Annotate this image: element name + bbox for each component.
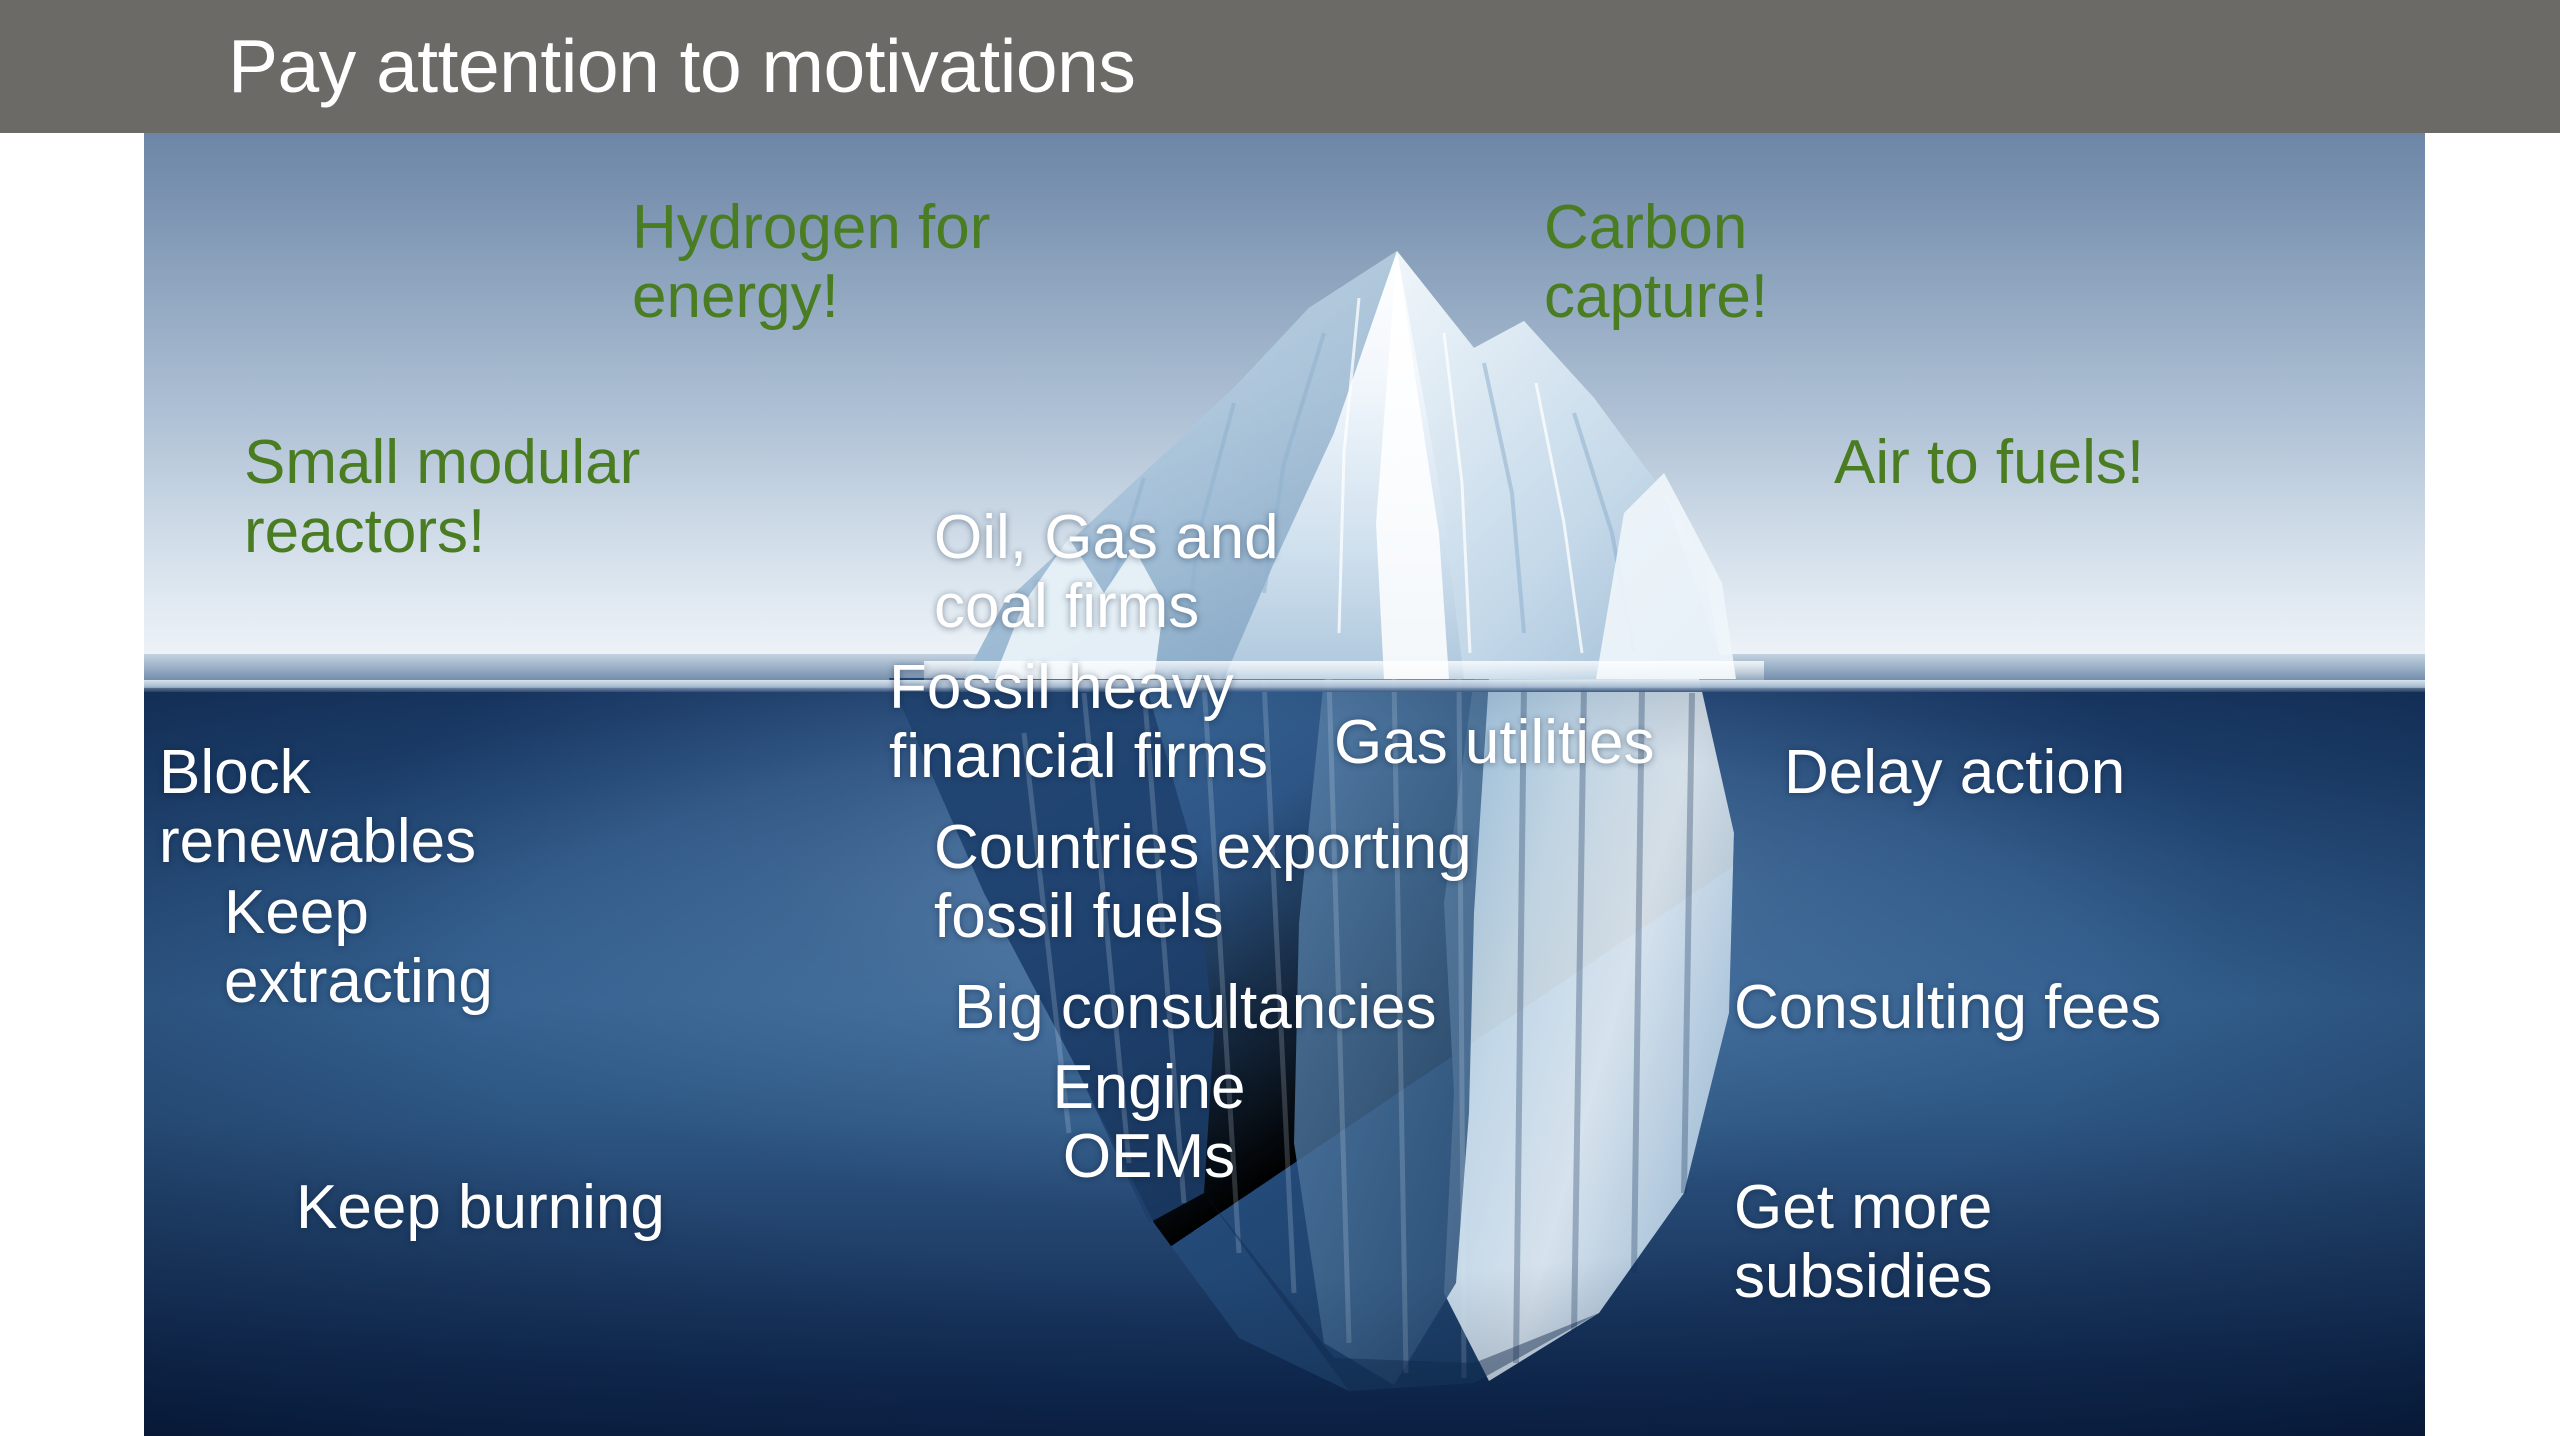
- label-engine-oems: Engine OEMs: [1024, 1053, 1274, 1192]
- label-consulting-fees: Consulting fees: [1734, 973, 2161, 1042]
- label-oil-gas-and-coal-firms: Oil, Gas and coal firms: [934, 503, 1279, 642]
- label-get-more-subsidies: Get more subsidies: [1734, 1173, 1992, 1312]
- page-title: Pay attention to motivations: [228, 29, 1135, 104]
- label-keep-extracting: Keep extracting: [224, 878, 493, 1017]
- label-carbon-capture: Carbon capture!: [1544, 193, 1768, 332]
- label-hydrogen-for-energy: Hydrogen for energy!: [632, 193, 990, 332]
- label-air-to-fuels: Air to fuels!: [1834, 428, 2144, 497]
- label-delay-action: Delay action: [1784, 738, 2125, 807]
- label-gas-utilities: Gas utilities: [1334, 708, 1654, 777]
- label-big-consultancies: Big consultancies: [954, 973, 1437, 1042]
- iceberg-diagram: Hydrogen for energy! Carbon capture! Sma…: [144, 133, 2425, 1436]
- label-countries-exporting-fossil-fuels: Countries exporting fossil fuels: [934, 813, 1472, 952]
- label-fossil-heavy-financial-firms: Fossil heavy financial firms: [889, 653, 1268, 792]
- label-small-modular-reactors: Small modular reactors!: [244, 428, 640, 567]
- label-block-renewables: Block renewables: [159, 738, 476, 877]
- slide-title-bar: Pay attention to motivations: [0, 0, 2560, 133]
- label-keep-burning: Keep burning: [296, 1173, 665, 1242]
